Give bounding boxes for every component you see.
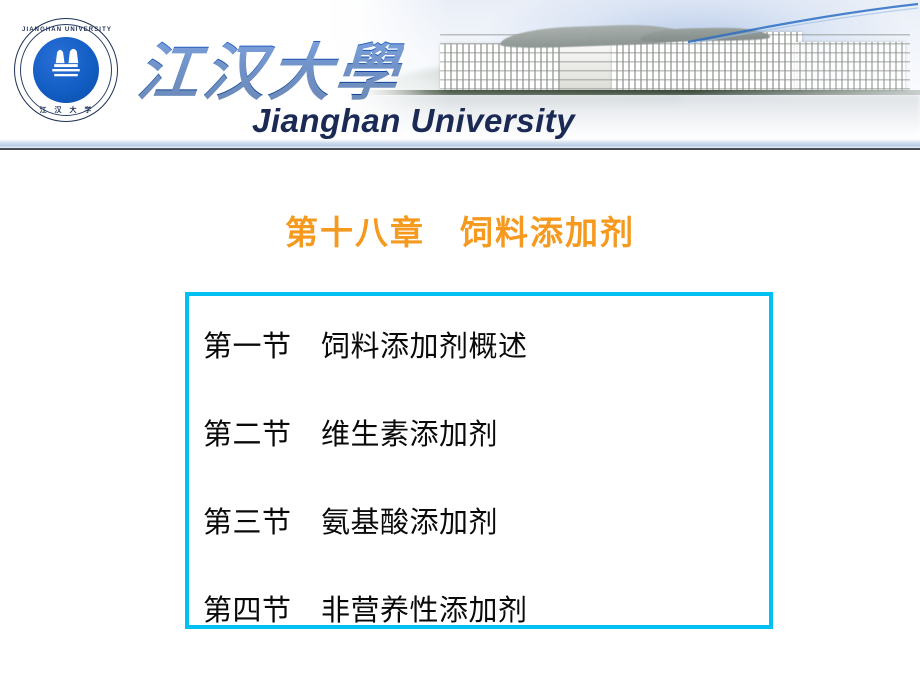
seal-ring-text-bottom: 江 汉 大 学	[15, 105, 119, 115]
seal-ring-text-top: JIANGHAN UNIVERSITY	[15, 27, 119, 33]
campus-building-block-d	[795, 42, 905, 90]
university-seal-icon: JIANGHAN UNIVERSITY 江 汉 大 学	[14, 18, 118, 122]
banner-light-rule	[0, 139, 920, 148]
presentation-slide: JIANGHAN UNIVERSITY 江 汉 大 学 江汉大學 Jiangha…	[0, 0, 920, 690]
campus-building-block-a	[440, 44, 560, 90]
university-banner: JIANGHAN UNIVERSITY 江 汉 大 学 江汉大學 Jiangha…	[0, 0, 920, 150]
list-item: 第一节 饲料添加剂概述	[203, 302, 763, 390]
english-wordmark: Jianghan University	[252, 102, 575, 140]
blue-swoosh-icon	[680, 0, 920, 44]
list-item: 第四节 非营养性添加剂	[203, 566, 763, 654]
banner-dark-rule	[0, 148, 920, 150]
chinese-wordmark: 江汉大學	[133, 22, 406, 112]
contents-list: 第一节 饲料添加剂概述 第二节 维生素添加剂 第三节 氨基酸添加剂 第四节 非营…	[203, 302, 763, 654]
contents-box: 第一节 饲料添加剂概述 第二节 维生素添加剂 第三节 氨基酸添加剂 第四节 非营…	[185, 292, 773, 629]
page-title: 第十八章 饲料添加剂	[0, 206, 920, 254]
list-item: 第二节 维生素添加剂	[203, 390, 763, 478]
list-item: 第三节 氨基酸添加剂	[203, 478, 763, 566]
